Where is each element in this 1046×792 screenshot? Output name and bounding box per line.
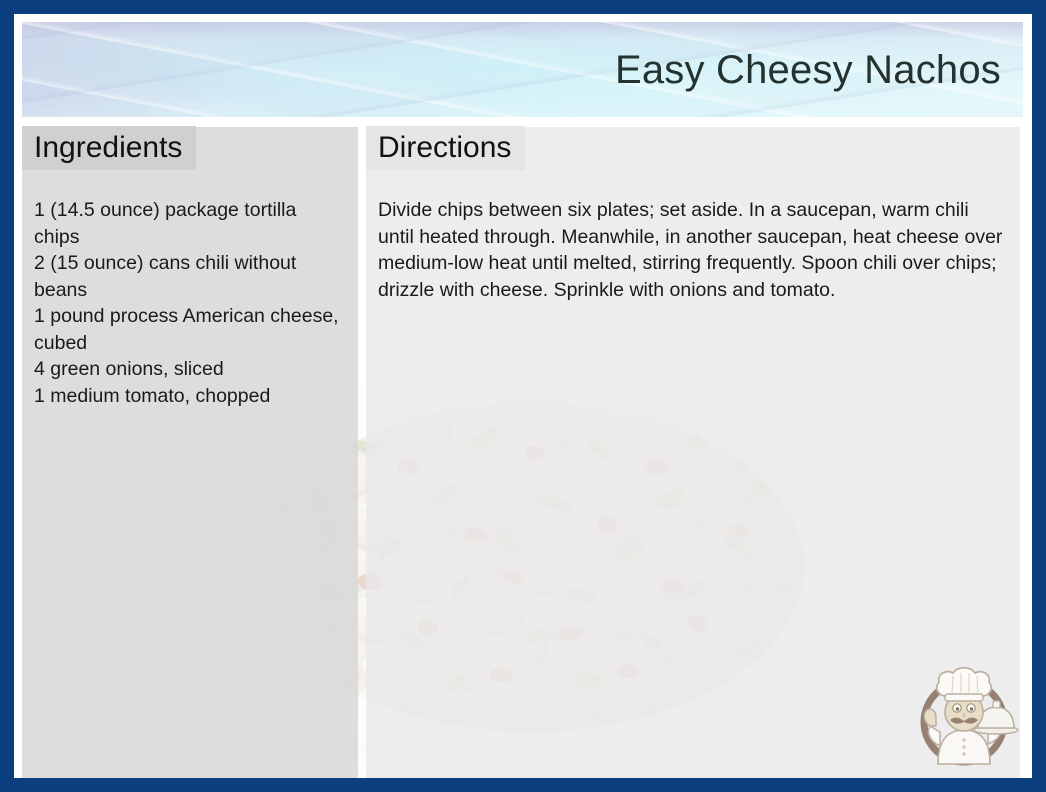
ingredients-list: 1 (14.5 ounce) package tortilla chips 2 … xyxy=(22,171,358,409)
ingredient-item: 1 (14.5 ounce) package tortilla chips xyxy=(34,197,346,250)
ingredient-item: 2 (15 ounce) cans chili without beans xyxy=(34,250,346,303)
directions-heading: Directions xyxy=(366,126,525,170)
ingredient-item: 1 medium tomato, chopped xyxy=(34,383,346,410)
directions-body: Divide chips between six plates; set asi… xyxy=(366,171,1020,303)
directions-text: Divide chips between six plates; set asi… xyxy=(378,197,1008,303)
recipe-card: Easy Cheesy Nachos xyxy=(0,0,1046,792)
chef-icon xyxy=(908,660,1020,772)
content-panels: Ingredients 1 (14.5 ounce) package torti… xyxy=(14,14,1032,778)
ingredients-panel: Ingredients 1 (14.5 ounce) package torti… xyxy=(22,127,358,778)
ingredient-item: 1 pound process American cheese, cubed xyxy=(34,303,346,356)
page-title: Easy Cheesy Nachos xyxy=(615,48,1001,92)
ingredients-heading: Ingredients xyxy=(22,126,196,170)
page-surface: Easy Cheesy Nachos xyxy=(14,14,1032,778)
ingredient-item: 4 green onions, sliced xyxy=(34,356,346,383)
chef-mascot-logo xyxy=(908,660,1020,772)
